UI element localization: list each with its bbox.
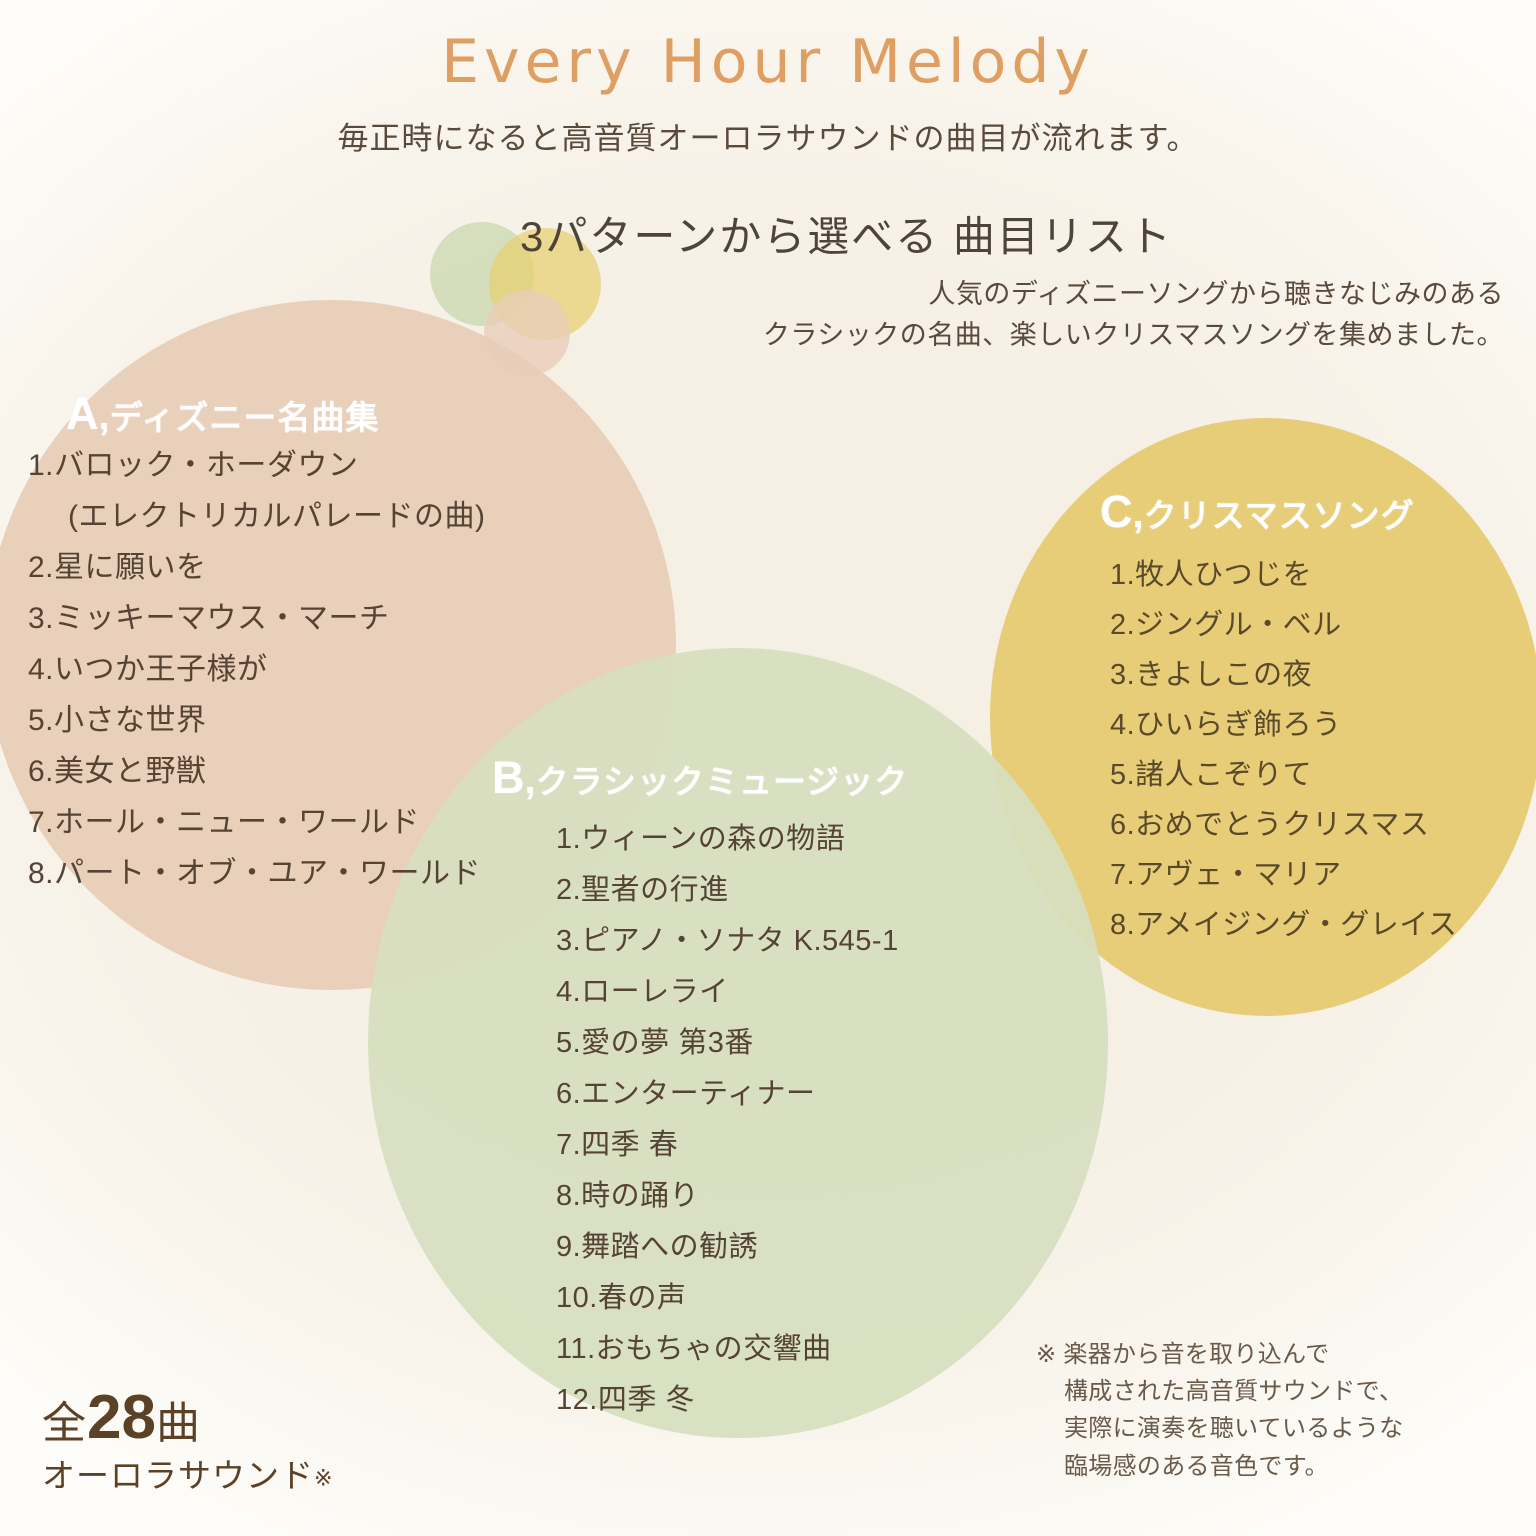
page-title: Every Hour Melody [0, 0, 1536, 97]
total-subtitle: オーロラサウンド※ [42, 1449, 333, 1497]
footnote-line: 構成された高音質サウンドで、 [1036, 1373, 1456, 1410]
group-c-name: クリスマスソング [1144, 497, 1415, 534]
group-b-name: クラシックミュージック [536, 763, 909, 800]
track-item: 3.きよしこの夜 [1110, 650, 1457, 700]
track-item: 5.小さな世界 [28, 695, 485, 746]
track-item: 7.四季 春 [556, 1120, 908, 1171]
group-c-tracklist: 1.牧人ひつじを 2.ジングル・ベル 3.きよしこの夜 4.ひいらぎ飾ろう 5.… [1092, 538, 1457, 950]
track-item: 5.愛の夢 第3番 [556, 1018, 908, 1069]
group-a-tracklist: 1.バロック・ホーダウン (エレクトリカルパレードの曲) 2.星に願いを 3.ミ… [28, 440, 485, 899]
group-a-heading: A,ディズニー名曲集 [28, 388, 485, 440]
track-item: 12.四季 冬 [556, 1375, 908, 1426]
group-b-heading: B,クラシックミュージック [492, 752, 908, 804]
group-b: B,クラシックミュージック 1.ウィーンの森の物語 2.聖者の行進 3.ピアノ・… [492, 752, 908, 1426]
track-item: 2.聖者の行進 [556, 865, 908, 916]
intro-description: 人気のディズニーソングから聴きなじみのある クラシックの名曲、楽しいクリスマスソ… [520, 274, 1510, 355]
footnote-line: 実際に演奏を聴いているような [1036, 1410, 1456, 1447]
footnote-line: 臨場感のある音色です。 [1036, 1448, 1456, 1485]
track-item: 1.牧人ひつじを [1110, 550, 1457, 600]
track-item: 4.ひいらぎ飾ろう [1110, 700, 1457, 750]
total-subtitle-text: オーロラサウンド [42, 1457, 314, 1494]
group-a-name: ディズニー名曲集 [110, 399, 380, 436]
track-item: 2.星に願いを [28, 542, 485, 593]
track-item: 6.おめでとうクリスマス [1110, 800, 1457, 850]
track-item: 5.諸人こぞりて [1110, 750, 1457, 800]
group-b-letter: B [492, 752, 525, 803]
intro-heading: 3パターンから選べる 曲目リスト [520, 212, 1510, 262]
track-item: 8.アメイジング・グレイス [1110, 900, 1457, 950]
track-item: 7.ホール・ニュー・ワールド [28, 797, 485, 848]
total-count-block: 全28曲 オーロラサウンド※ [42, 1382, 333, 1497]
track-item: 1.バロック・ホーダウン [28, 440, 485, 491]
intro-line: クラシックの名曲、楽しいクリスマスソングを集めました。 [520, 315, 1510, 356]
footnote-mark-icon: ※ [314, 1465, 333, 1490]
track-item: 9.舞踏への勧誘 [556, 1222, 908, 1273]
intro-block: 3パターンから選べる 曲目リスト 人気のディズニーソングから聴きなじみのある ク… [520, 212, 1510, 355]
poster-canvas: Every Hour Melody 毎正時になると高音質オーロラサウンドの曲目が… [0, 0, 1536, 1536]
track-item: 8.時の踊り [556, 1171, 908, 1222]
footnote: ※ 楽器から音を取り込んで 構成された高音質サウンドで、 実際に演奏を聴いている… [1036, 1336, 1456, 1485]
track-item: 4.ローレライ [556, 967, 908, 1018]
track-item: 1.ウィーンの森の物語 [556, 814, 908, 865]
track-item: (エレクトリカルパレードの曲) [28, 491, 485, 542]
track-item: 11.おもちゃの交響曲 [556, 1324, 908, 1375]
group-b-comma: , [525, 758, 536, 802]
group-a: A,ディズニー名曲集 1.バロック・ホーダウン (エレクトリカルパレードの曲) … [28, 388, 485, 899]
group-a-letter: A [66, 388, 99, 439]
group-b-tracklist: 1.ウィーンの森の物語 2.聖者の行進 3.ピアノ・ソナタ K.545-1 4.… [492, 804, 908, 1426]
footnote-line: ※ 楽器から音を取り込んで [1036, 1336, 1456, 1373]
group-c-comma: , [1133, 492, 1144, 536]
total-unit: 曲 [156, 1399, 201, 1448]
track-item: 7.アヴェ・マリア [1110, 850, 1457, 900]
group-c-heading: C,クリスマスソング [1092, 486, 1457, 538]
intro-line: 人気のディズニーソングから聴きなじみのある [520, 274, 1510, 315]
track-item: 6.エンターティナー [556, 1069, 908, 1120]
track-item: 6.美女と野獣 [28, 746, 485, 797]
track-item: 4.いつか王子様が [28, 644, 485, 695]
group-c-letter: C [1100, 486, 1133, 537]
track-item: 10.春の声 [556, 1273, 908, 1324]
total-count: 全28曲 [42, 1382, 333, 1453]
track-item: 3.ミッキーマウス・マーチ [28, 593, 485, 644]
total-number: 28 [87, 1383, 156, 1452]
track-item: 3.ピアノ・ソナタ K.545-1 [556, 916, 908, 967]
track-item: 2.ジングル・ベル [1110, 600, 1457, 650]
page-subtitle: 毎正時になると高音質オーロラサウンドの曲目が流れます。 [0, 97, 1536, 158]
group-a-comma: , [99, 394, 110, 438]
group-c: C,クリスマスソング 1.牧人ひつじを 2.ジングル・ベル 3.きよしこの夜 4… [1092, 486, 1457, 950]
header: Every Hour Melody 毎正時になると高音質オーロラサウンドの曲目が… [0, 0, 1536, 158]
track-item: 8.パート・オブ・ユア・ワールド [28, 848, 485, 899]
total-lead: 全 [42, 1399, 87, 1448]
